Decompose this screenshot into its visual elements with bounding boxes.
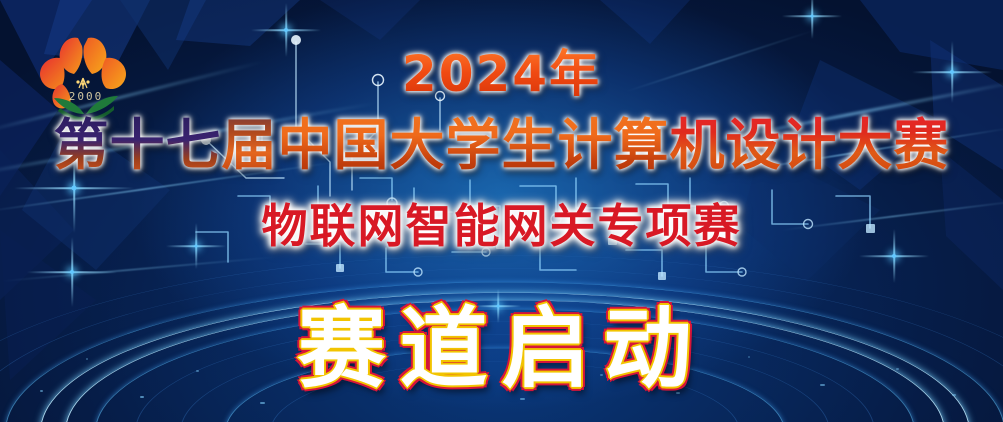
competition-logo: 2000 <box>26 22 146 126</box>
polygon-shards-layer <box>0 0 1003 422</box>
light-streaks-layer <box>0 0 1003 422</box>
circuit-trace-layer <box>0 0 1003 422</box>
main-title-segment-3: 中国大学生计算 <box>278 113 670 177</box>
main-title-segment-4: 机设计大赛 <box>670 113 950 177</box>
radial-track-layer <box>0 152 1003 422</box>
shard-shapes <box>0 0 1003 422</box>
circuit-paths <box>0 0 1003 422</box>
main-title-line: 第十七届中国大学生计算机设计大赛 <box>0 100 1003 180</box>
flower-logo-icon: 2000 <box>26 22 146 126</box>
year-label: 2024年 <box>402 45 601 103</box>
main-title-segment-2: 届 <box>221 113 277 177</box>
headline-line: 赛道启动 <box>0 278 1003 405</box>
subtitle-line: 物联网智能网关专项赛 <box>0 190 1003 256</box>
year-line: 2024年 <box>0 34 1003 106</box>
logo-year-mark: 2000 <box>69 90 104 103</box>
competition-banner: 2000 2024年 第十七届中国大学生计算机设计大赛 物联网智能网关专项赛 赛… <box>0 0 1003 422</box>
